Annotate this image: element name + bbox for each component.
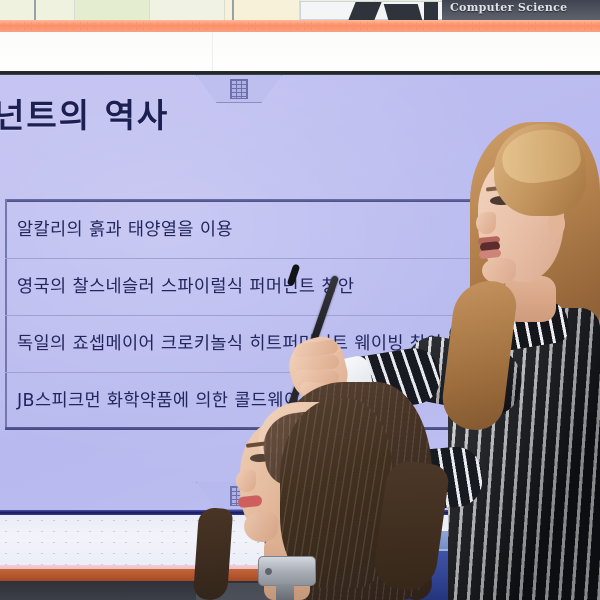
board-shape <box>384 4 423 20</box>
wall-sign: Computer Science <box>442 0 600 20</box>
table-cell-text: 알칼리의 흙과 태양열을 이용 <box>17 216 233 241</box>
room-upper-wall: Computer Science <box>0 0 600 74</box>
upper-wall-surface <box>0 32 600 74</box>
mannequin-neck-clamp <box>258 556 316 586</box>
panel-divider <box>34 0 36 22</box>
wall-panel <box>0 0 75 22</box>
wall-panel <box>150 0 225 22</box>
clamp-bolt <box>265 568 272 575</box>
instructor-nose <box>476 212 496 234</box>
mannequin-nose <box>236 470 256 492</box>
screenshot-frame: Computer Science 넌트의 역사 알칼리의 흙과 태양열을 이용 … <box>0 0 600 600</box>
mannequin-stand-post <box>276 584 294 600</box>
wall-panel <box>225 0 300 22</box>
board-shape <box>424 2 438 20</box>
accent-band <box>0 20 600 32</box>
panel-divider <box>232 0 234 22</box>
mannequin-head <box>222 378 432 600</box>
wall-sign-label: Computer Science <box>450 1 567 14</box>
mannequin-chin <box>244 512 278 542</box>
table-cell-text: 영국의 찰스네슬러 스파이럴식 퍼머넌트 창안 <box>17 273 354 298</box>
wall-panel <box>75 0 150 22</box>
slide-title: 넌트의 역사 <box>0 92 294 140</box>
wall-seam <box>212 32 213 74</box>
